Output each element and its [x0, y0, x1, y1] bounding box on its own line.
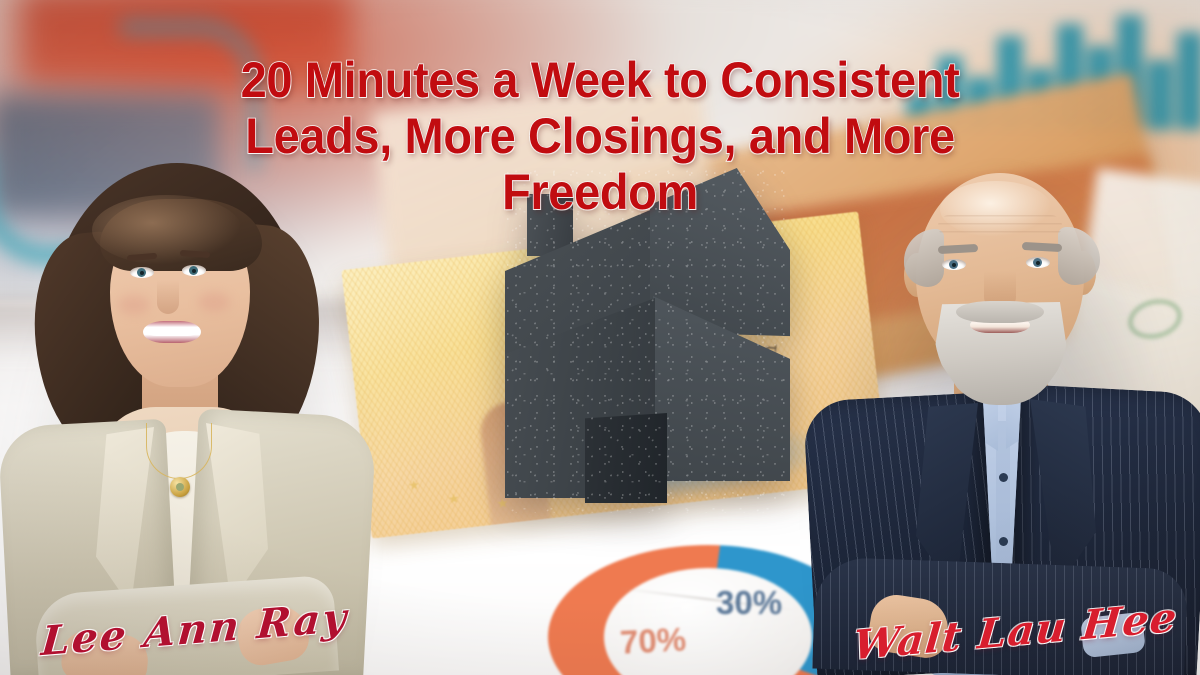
left-presenter-pendant — [170, 477, 190, 497]
house-texture — [505, 168, 790, 513]
left-presenter-blush-right — [198, 292, 230, 312]
promo-banner: ★ ★ ★ ★ ★ 874431 30% 70% — [0, 0, 1200, 675]
right-presenter-eye-right — [1026, 257, 1050, 268]
right-presenter-portrait — [800, 145, 1200, 675]
banknote-star: ★ — [407, 477, 420, 494]
left-presenter-smile — [143, 321, 201, 343]
right-presenter-shirt-button — [999, 473, 1008, 482]
background-bar — [1147, 60, 1173, 130]
banknote-star: ★ — [447, 490, 460, 507]
right-presenter-shirt-button — [999, 537, 1008, 546]
right-presenter-eye-left — [942, 259, 966, 270]
left-presenter-blush-left — [118, 295, 150, 315]
donut-label-30: 30% — [716, 584, 782, 622]
background-bar — [1177, 32, 1200, 130]
left-presenter-nose — [157, 280, 179, 314]
right-presenter-mustache — [956, 301, 1044, 323]
donut-label-70: 70% — [619, 620, 687, 661]
background-teal-swoosh-secondary — [120, 20, 260, 170]
left-presenter-hair-gloss — [92, 195, 242, 265]
model-house — [505, 168, 790, 513]
left-presenter-eye-left — [130, 267, 154, 278]
right-presenter-forehead-lines — [938, 215, 1062, 237]
left-presenter-eye-right — [182, 265, 206, 276]
